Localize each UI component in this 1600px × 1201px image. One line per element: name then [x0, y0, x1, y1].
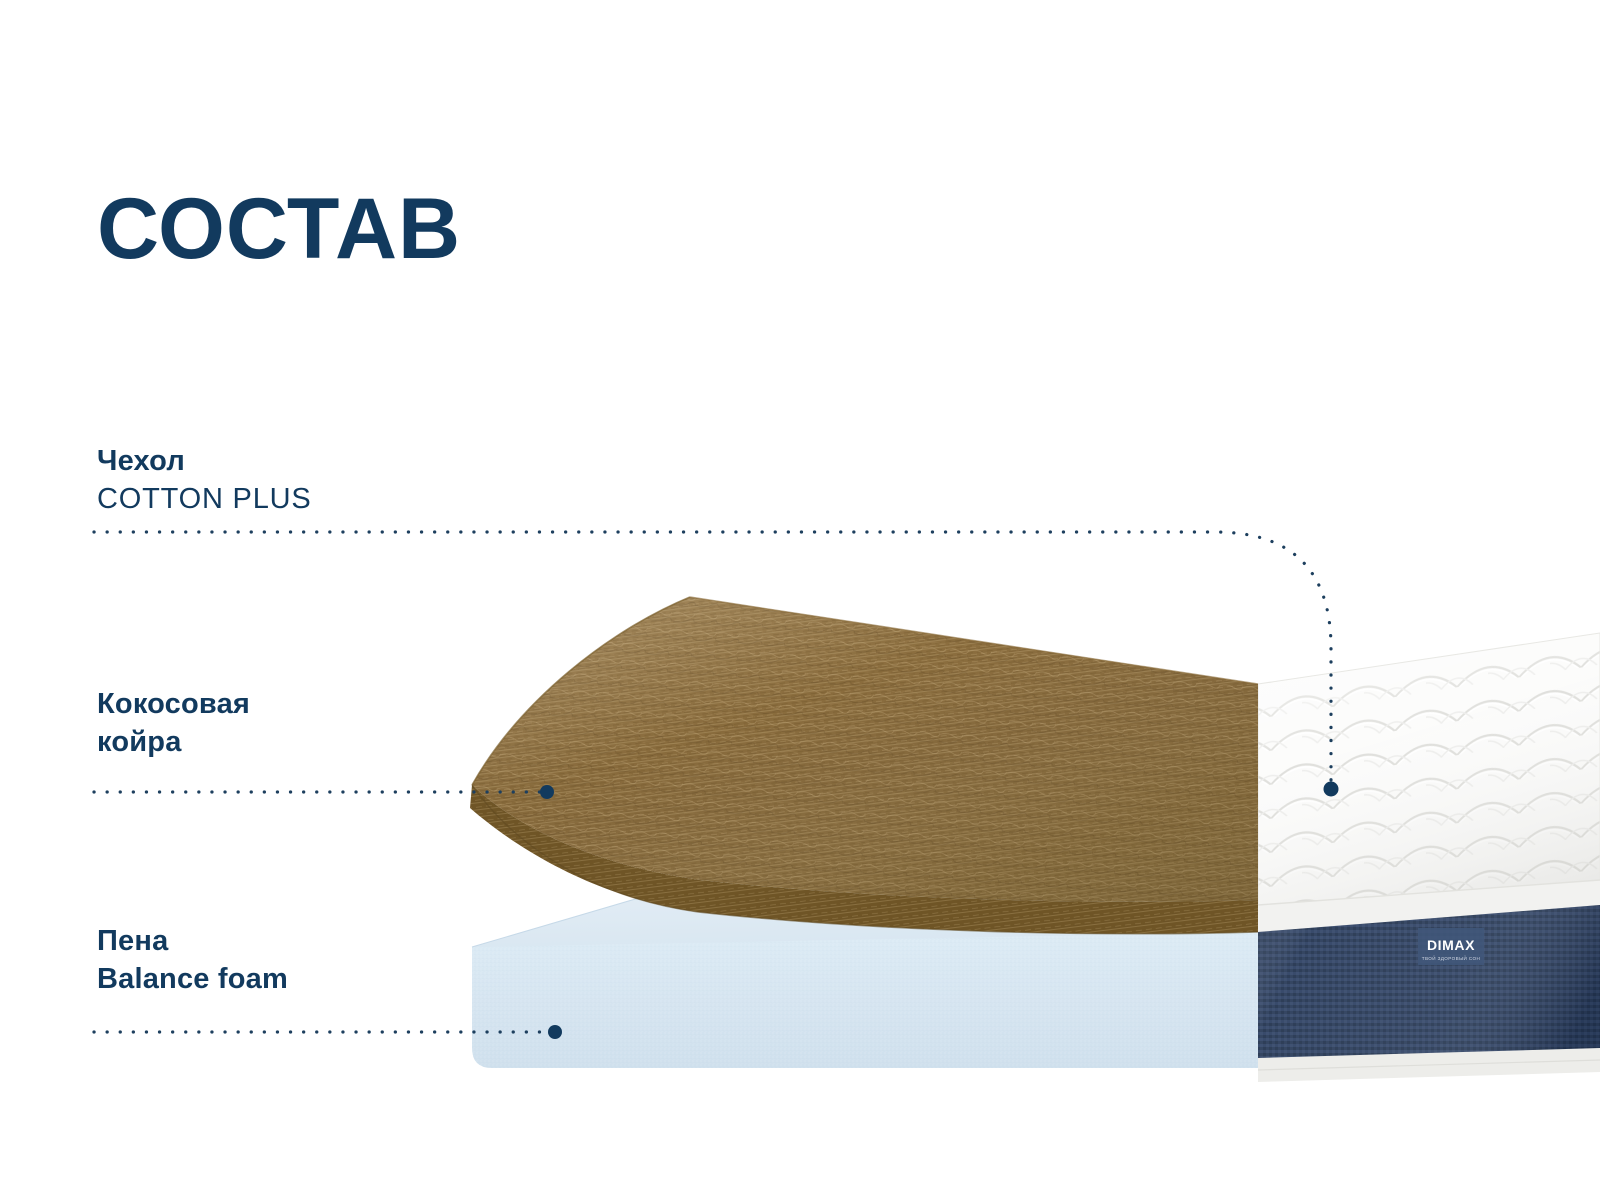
mattress-illustration: DIMAX ТВОЙ ЗДОРОВЫЙ СОН [0, 0, 1600, 1201]
svg-text:DIMAX: DIMAX [1427, 937, 1475, 953]
layer-label-coir-line1: Кокосовая [97, 685, 250, 723]
layer-label-coir: Кокосовая койра [97, 685, 250, 761]
coir-layer-graphic [440, 570, 1290, 960]
composition-infographic: СОСТАВ [0, 0, 1600, 1201]
layer-label-foam-line2: Balance foam [97, 960, 288, 998]
layer-label-coir-line2: койра [97, 723, 250, 761]
layer-label-cover-line1: Чехол [97, 442, 312, 480]
cover-layer-graphic [1240, 620, 1600, 950]
layer-label-cover: Чехол COTTON PLUS [97, 442, 312, 518]
layer-label-foam-line1: Пена [97, 922, 288, 960]
svg-text:ТВОЙ ЗДОРОВЫЙ СОН: ТВОЙ ЗДОРОВЫЙ СОН [1422, 954, 1480, 961]
layer-label-foam: Пена Balance foam [97, 922, 288, 998]
layer-label-cover-line2: COTTON PLUS [97, 480, 312, 518]
brand-badge: DIMAX ТВОЙ ЗДОРОВЫЙ СОН [1418, 928, 1484, 965]
